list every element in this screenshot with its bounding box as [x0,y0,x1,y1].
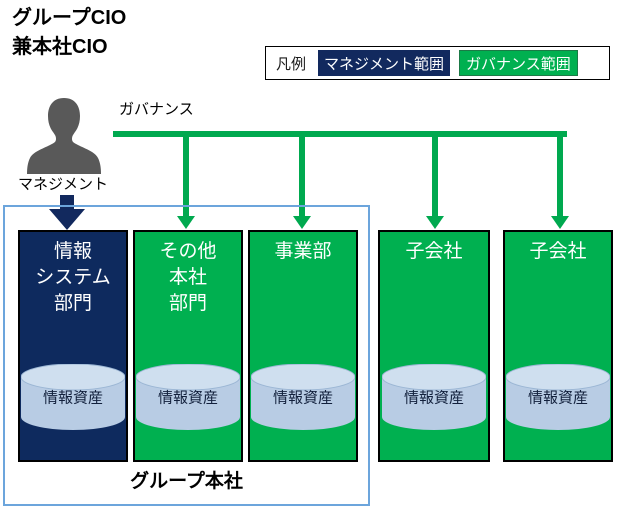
governance-drop-line-1 [183,131,189,216]
unit-title: 子会社 [380,239,488,265]
unit-title: 事業部 [250,239,356,265]
management-label: マネジメント [18,173,108,194]
unit-box-other-hq-departments[interactable]: その他 本社 部門 情報資産 [133,230,243,462]
title-line-2: 兼本社CIO [12,33,126,62]
governance-drop-line-4 [557,131,563,216]
database-cylinder-icon: 情報資産 [506,364,610,430]
governance-drop-line-2 [299,131,305,216]
title-line-1: グループCIO [12,4,126,33]
diagram-canvas: グループCIO 兼本社CIO 凡例 マネジメント範囲 ガバナンス範囲 マネジメン… [0,0,617,513]
unit-box-information-systems[interactable]: 情報 システム 部門 情報資産 [18,230,128,462]
governance-bus-line [113,131,567,137]
database-cylinder-icon: 情報資産 [21,364,125,430]
unit-box-subsidiary-1[interactable]: 子会社 情報資産 [378,230,490,462]
unit-title: その他 本社 部門 [135,239,241,316]
group-hq-label: グループ本社 [3,466,370,493]
unit-title: 情報 システム 部門 [20,239,126,316]
governance-arrowhead-3 [426,216,444,229]
unit-title: 子会社 [505,239,611,265]
legend: 凡例 マネジメント範囲 ガバナンス範囲 [265,46,610,80]
database-cylinder-icon: 情報資産 [382,364,486,430]
page-title: グループCIO 兼本社CIO [12,4,126,62]
person-silhouette-icon [27,96,101,174]
governance-label: ガバナンス [119,98,194,119]
governance-drop-line-3 [432,131,438,216]
legend-item-management: マネジメント範囲 [318,50,450,76]
governance-arrowhead-4 [551,216,569,229]
database-cylinder-icon: 情報資産 [251,364,355,430]
unit-box-subsidiary-2[interactable]: 子会社 情報資産 [503,230,613,462]
unit-box-business-division[interactable]: 事業部 情報資産 [248,230,358,462]
legend-title: 凡例 [276,53,306,74]
legend-item-governance: ガバナンス範囲 [459,50,578,76]
database-cylinder-icon: 情報資産 [136,364,240,430]
